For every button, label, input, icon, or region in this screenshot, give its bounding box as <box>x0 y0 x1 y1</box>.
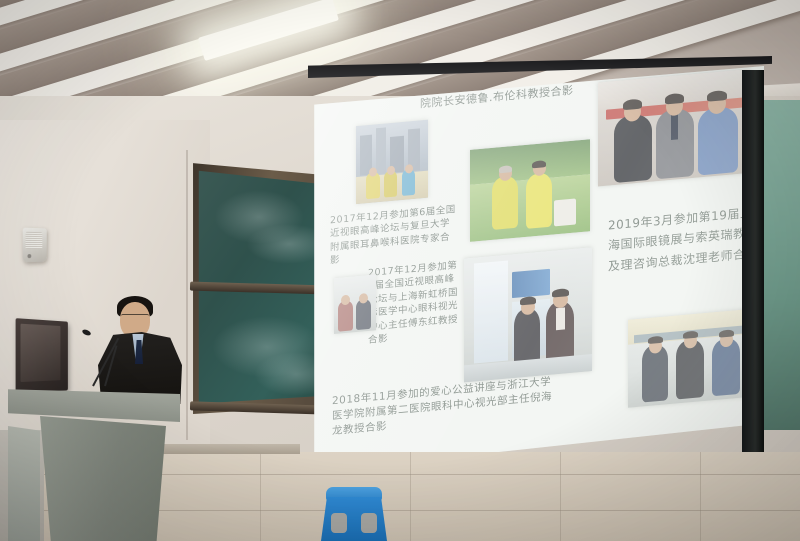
slide-photo-small-left <box>334 274 376 334</box>
lectern-side <box>8 426 40 541</box>
lectern-top <box>8 382 180 422</box>
lectern-body <box>32 416 166 541</box>
slide-photo-exhibition-booth <box>464 247 592 382</box>
stool-handle-hole-left <box>331 513 347 533</box>
blue-plastic-stool <box>318 487 390 541</box>
screen-right-edge <box>742 70 764 460</box>
wall-mounted-speaker <box>23 228 47 263</box>
slide-caption-right: 2019年3月参加第19届上海国际眼镜展与索英瑞教授及理咨询总裁沈理老师合影 <box>608 202 758 277</box>
glasses-icon <box>121 314 149 321</box>
slide-caption-upper-left: 2017年12月参加第6届全国近视眼高峰论坛与复旦大学附属眼耳鼻喉科医院专家合影 <box>330 203 458 268</box>
monitor-screen <box>21 324 61 382</box>
projection-screen: 2017年12月参加第6届全国近视眼高峰论坛与美国塔兰视光学院院长安德鲁.布伦科… <box>308 56 778 476</box>
stool-body <box>321 497 387 541</box>
stool-handle-hole-right <box>361 513 377 533</box>
projected-slide: 2017年12月参加第6届全国近视眼高峰论坛与美国塔兰视光学院院长安德鲁.布伦科… <box>312 66 764 472</box>
slide-photo-golf-yellow <box>470 139 590 242</box>
lectern <box>8 382 180 541</box>
slide-photo-city-skyline <box>356 120 428 204</box>
speaker-indicator-icon <box>27 254 31 258</box>
slide-caption-bottom-left: 2018年11月参加的爱心公益讲座与浙江大学医学院附属第二医院眼科中心视光部主任… <box>332 374 562 439</box>
slide-caption-middle-left: 2017年12月参加第6届全国近视眼高峰论坛与上海新虹桥国际医学中心眼科视光中心… <box>368 259 460 348</box>
slide-photo-group-indoor <box>628 309 752 408</box>
speaker-grill <box>26 232 43 249</box>
lecture-hall-photo: 2017年12月参加第6届全国近视眼高峰论坛与美国塔兰视光学院院长安德鲁.布伦科… <box>0 0 800 541</box>
slide-photo-three-men-outdoor <box>598 69 750 187</box>
